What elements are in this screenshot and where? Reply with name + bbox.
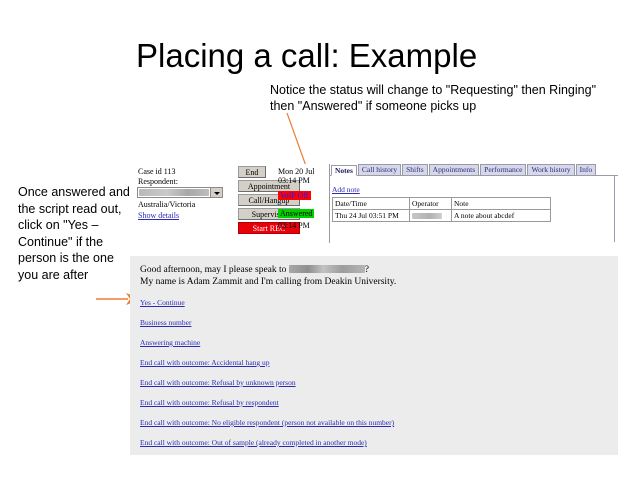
embedded-app-screenshot: Case id 113 Respondent: Australia/Victor… [130,164,618,455]
tab-work-history[interactable]: Work history [527,164,574,175]
column-header-note: Note [452,198,551,210]
tab-call-history[interactable]: Call history [358,164,401,175]
cell-operator [410,210,452,222]
script-greeting-text: Good afternoon, may I please speak to [140,265,289,275]
notes-tab-body: Add note Date/Time Operator Note Thu 24 … [330,176,615,242]
table-row[interactable]: Thu 24 Jul 03:51 PM A note about abcdef [333,210,551,222]
outcome-link-answering-machine[interactable]: Answering machine [140,338,200,347]
respondent-select[interactable] [137,187,223,198]
outcome-link-no-eligible-respondent[interactable]: End call with outcome: No eligible respo… [140,418,394,427]
locale-label: Australia/Victoria [138,200,195,209]
notes-table: Date/Time Operator Note Thu 24 Jul 03:51… [332,197,551,222]
left-annotation-text: Once answered and the script read out, c… [18,184,133,283]
call-control-panel: Case id 113 Respondent: Australia/Victor… [130,164,328,243]
outcome-links-list: Yes - Continue Business number Answering… [140,298,618,447]
respondent-value-redacted [139,189,209,196]
call-status-badge: Answered [278,209,314,218]
outcome-link-refusal-unknown-person[interactable]: End call with outcome: Refusal by unknow… [140,378,296,387]
call-status-column: Mon 20 Jul 03:14 PM VoIP Off Answered 03… [278,167,328,230]
operator-redacted [412,213,442,219]
table-header-row: Date/Time Operator Note [333,198,551,210]
tab-notes[interactable]: Notes [331,165,357,176]
script-region: Good afternoon, may I please speak to ? … [130,256,618,455]
case-id-label: Case id 113 [138,167,175,176]
cell-datetime: Thu 24 Jul 03:51 PM [333,210,410,222]
script-line-1: Good afternoon, may I please speak to ? [140,264,618,276]
outcome-link-refusal-respondent[interactable]: End call with outcome: Refusal by respon… [140,398,279,407]
tab-performance[interactable]: Performance [480,164,526,175]
chevron-down-icon[interactable] [210,188,222,197]
tab-strip: Notes Call history Shifts Appointments P… [330,164,618,176]
cell-note: A note about abcdef [452,210,551,222]
top-annotation-text: Notice the status will change to "Reques… [270,82,600,114]
app-top-region: Case id 113 Respondent: Australia/Victor… [130,164,618,244]
respondent-name-redacted [289,265,365,273]
end-button[interactable]: End [238,166,266,178]
status-time-end: 03:14 PM [278,221,328,230]
tab-shifts[interactable]: Shifts [402,164,428,175]
outcome-link-accidental-hang-up[interactable]: End call with outcome: Accidental hang u… [140,358,270,367]
tab-appointments[interactable]: Appointments [429,164,480,175]
voip-status-badge: VoIP Off [278,191,311,200]
outcome-link-out-of-sample[interactable]: End call with outcome: Out of sample (al… [140,438,367,447]
script-greeting-suffix: ? [365,265,369,275]
status-date: Mon 20 Jul [278,167,328,176]
outcome-link-business-number[interactable]: Business number [140,318,191,327]
page-title: Placing a call: Example [136,36,477,76]
show-details-link[interactable]: Show details [138,211,179,220]
tab-info[interactable]: Info [576,164,597,175]
column-header-datetime: Date/Time [333,198,410,210]
column-header-operator: Operator [410,198,452,210]
outcome-link-yes-continue[interactable]: Yes - Continue [140,298,185,307]
add-note-link[interactable]: Add note [332,185,360,194]
tab-panel: Notes Call history Shifts Appointments P… [330,164,618,243]
status-time-start: 03:14 PM [278,176,328,185]
script-line-2: My name is Adam Zammit and I'm calling f… [140,276,618,288]
respondent-label: Respondent: [138,177,178,186]
